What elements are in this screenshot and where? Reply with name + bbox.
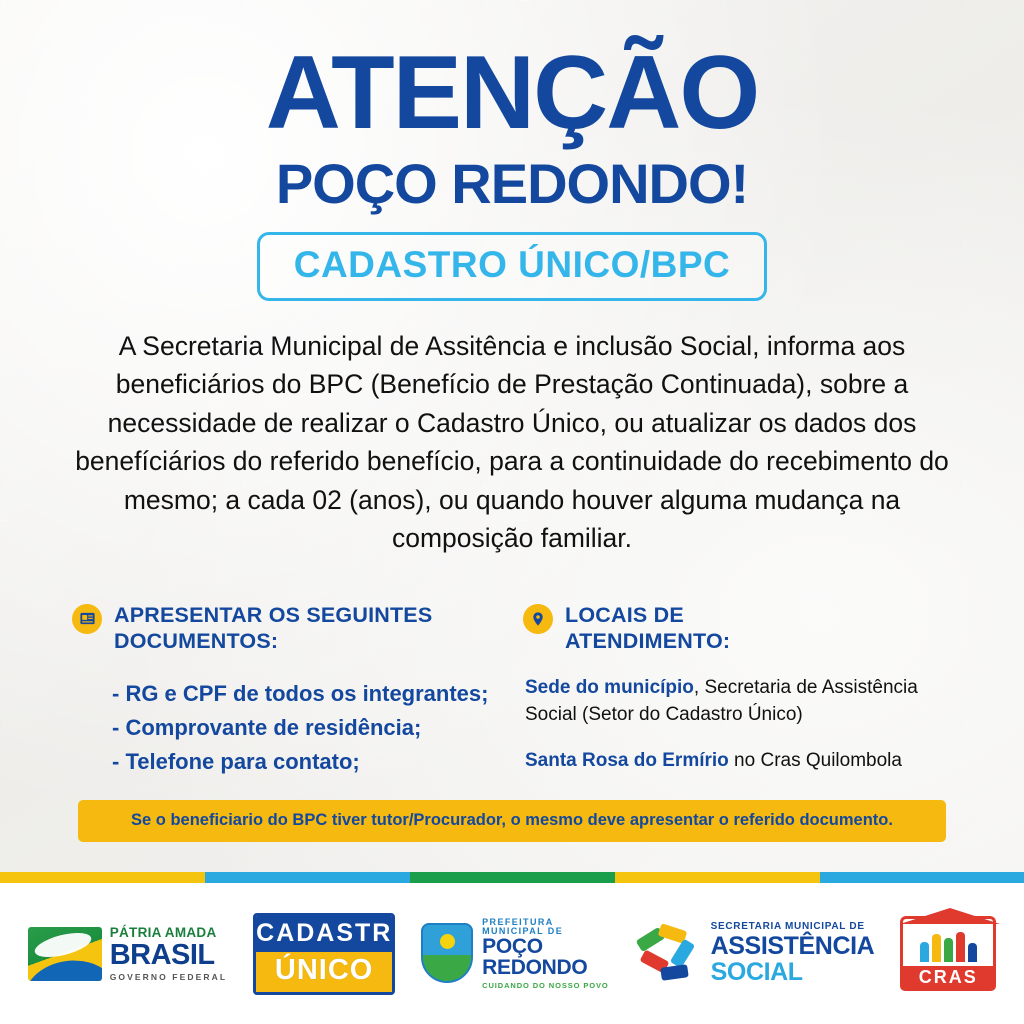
locations-heading-line1: LOCAIS DE: [565, 602, 730, 629]
footer-logos: PÁTRIA AMADA BRASIL GOVERNO FEDERAL CADA…: [0, 883, 1024, 1024]
assistencia-logo-text: SECRETARIA MUNICIPAL DE ASSISTÊNCIA SOCI…: [711, 922, 875, 985]
documents-heading-line2: DOCUMENTOS:: [114, 628, 432, 655]
map-pin-icon: [523, 604, 553, 634]
id-card-icon: [72, 604, 102, 634]
list-item: Santa Rosa do Ermírio no Cras Quilombola: [525, 748, 945, 775]
brasil-logo-text: PÁTRIA AMADA BRASIL GOVERNO FEDERAL: [110, 926, 227, 981]
documents-heading-text: APRESENTAR OS SEGUINTES DOCUMENTOS:: [114, 602, 432, 656]
cras-label: CRAS: [900, 966, 996, 991]
page-title: ATENÇÃO: [0, 0, 1024, 143]
locations-heading-text: LOCAIS DE ATENDIMENTO:: [565, 602, 730, 656]
documents-column: APRESENTAR OS SEGUINTES DOCUMENTOS: - RG…: [72, 602, 501, 780]
prefeitura-logo-text: PREFEITURA MUNICIPAL DE POÇO REDONDO CUI…: [482, 918, 608, 990]
locations-heading-line2: ATENDIMENTO:: [565, 628, 730, 655]
body-paragraph: A Secretaria Municipal de Assitência e i…: [62, 327, 962, 558]
stripe-segment: [410, 872, 615, 883]
cadunico-top: CADASTRO: [256, 916, 392, 952]
list-item: - RG e CPF de todos os integrantes;: [112, 677, 501, 711]
poster-root: ATENÇÃO POÇO REDONDO! CADASTRO ÚNICO/BPC…: [0, 0, 1024, 1024]
location-detail: no Cras Quilombola: [729, 750, 902, 771]
stripe-segment: [205, 872, 410, 883]
list-item: - Comprovante de residência;: [112, 711, 501, 745]
stripe-segment: [820, 872, 1024, 883]
cadunico-bottom: ÚNICO: [256, 952, 392, 992]
logo-patria-amada-brasil: PÁTRIA AMADA BRASIL GOVERNO FEDERAL: [28, 926, 227, 981]
assistencia-line2: ASSISTÊNCIA: [711, 933, 875, 959]
logo-cras: CRAS: [900, 916, 996, 991]
documents-heading-line1: APRESENTAR OS SEGUINTES: [114, 602, 432, 629]
cras-house-icon: [900, 916, 996, 966]
brasil-line3: GOVERNO FEDERAL: [110, 973, 227, 982]
documents-list: - RG e CPF de todos os integrantes; - Co…: [112, 677, 501, 779]
brasil-line1: PÁTRIA AMADA: [110, 926, 227, 940]
badge-container: CADASTRO ÚNICO/BPC: [0, 232, 1024, 301]
locations-column: LOCAIS DE ATENDIMENTO: Sede do município…: [523, 602, 952, 780]
logo-cadastro-unico: CADASTRO ÚNICO: [253, 913, 395, 995]
program-badge: CADASTRO ÚNICO/BPC: [257, 232, 768, 301]
list-item: Sede do município, Secretaria de Assistê…: [525, 675, 945, 728]
page-subtitle: POÇO REDONDO!: [0, 157, 1024, 210]
location-name: Sede do município: [525, 677, 694, 698]
notice-banner: Se o beneficiario do BPC tiver tutor/Pro…: [78, 800, 946, 842]
logo-prefeitura-poco-redondo: PREFEITURA MUNICIPAL DE POÇO REDONDO CUI…: [421, 918, 608, 990]
logo-assistencia-social: SECRETARIA MUNICIPAL DE ASSISTÊNCIA SOCI…: [635, 922, 875, 985]
prefeitura-line4: REDONDO: [482, 957, 608, 978]
color-stripes: [0, 872, 1024, 883]
locations-heading: LOCAIS DE ATENDIMENTO:: [523, 602, 952, 656]
brasil-line2: BRASIL: [110, 941, 227, 970]
hands-icon: [635, 925, 701, 983]
documents-heading: APRESENTAR OS SEGUINTES DOCUMENTOS:: [72, 602, 501, 656]
assistencia-line3: SOCIAL: [711, 959, 875, 985]
location-name: Santa Rosa do Ermírio: [525, 750, 729, 771]
stripe-segment: [615, 872, 820, 883]
stripe-segment: [0, 872, 205, 883]
prefeitura-shield-icon: [421, 923, 473, 983]
prefeitura-line3: POÇO: [482, 936, 608, 957]
list-item: - Telefone para contato;: [112, 745, 501, 779]
brasil-flag-icon: [28, 927, 102, 981]
info-columns: APRESENTAR OS SEGUINTES DOCUMENTOS: - RG…: [72, 602, 952, 780]
assistencia-line1: SECRETARIA MUNICIPAL DE: [711, 922, 875, 933]
prefeitura-line5: CUIDANDO DO NOSSO POVO: [482, 982, 608, 990]
